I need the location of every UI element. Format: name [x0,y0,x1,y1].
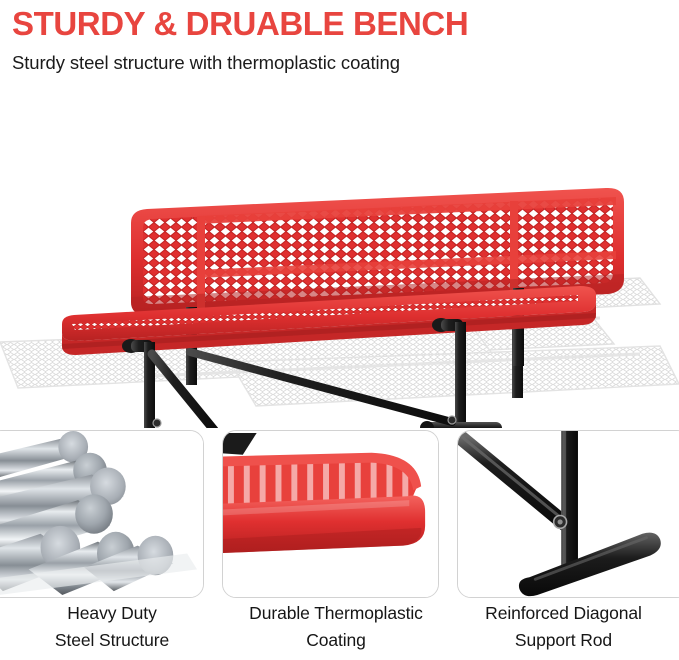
feature-panel-steel-bars [0,430,204,598]
page-title: STURDY & DRUABLE BENCH [12,4,679,44]
feature-panel-row [0,430,679,598]
bolt-joint [554,515,567,528]
caption-line-1: Reinforced Diagonal [448,600,679,627]
support-rod-icon [458,431,679,597]
caption-thermoplastic-coating: Durable Thermoplastic Coating [224,600,448,654]
steel-bars-icon [0,431,203,597]
page-subtitle: Sturdy steel structure with thermoplasti… [12,51,679,75]
caption-row: Heavy Duty Steel Structure Durable Therm… [0,600,679,660]
caption-line-1: Heavy Duty [0,600,224,627]
caption-line-2: Support Rod [448,627,679,654]
infographic-page: STURDY & DRUABLE BENCH Sturdy steel stru… [0,0,679,660]
caption-line-2: Steel Structure [0,627,224,654]
header: STURDY & DRUABLE BENCH Sturdy steel stru… [0,0,679,75]
hero-product-image [0,92,679,428]
feature-panel-support-rod [457,430,679,598]
bench-illustration [0,92,679,428]
caption-line-2: Coating [224,627,448,654]
caption-steel-structure: Heavy Duty Steel Structure [0,600,224,654]
thermoplastic-coating-icon [223,431,438,597]
caption-support-rod: Reinforced Diagonal Support Rod [448,600,679,654]
caption-line-1: Durable Thermoplastic [224,600,448,627]
feature-panel-thermoplastic [222,430,439,598]
